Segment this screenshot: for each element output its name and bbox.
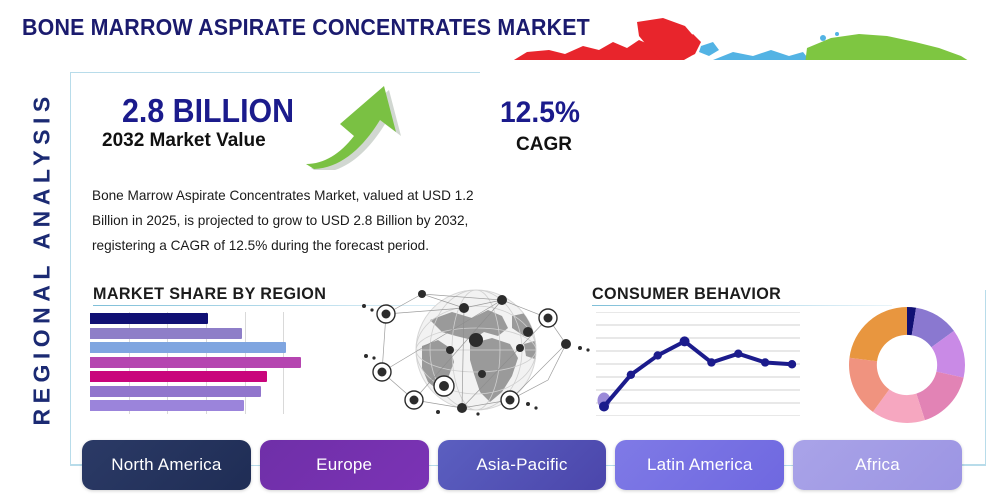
bar-chart-bar bbox=[90, 313, 208, 324]
bar-fill bbox=[90, 357, 301, 368]
bar-chart-bar bbox=[90, 400, 244, 411]
bar-fill bbox=[90, 371, 267, 382]
region-button-label: Africa bbox=[855, 455, 900, 475]
consumer-behavior-line-chart bbox=[596, 312, 800, 416]
line-chart-marker bbox=[761, 358, 769, 366]
line-chart-marker bbox=[599, 401, 609, 411]
global-network-icon bbox=[352, 282, 600, 422]
bar-fill bbox=[90, 400, 244, 411]
section-rule-consumer-behavior bbox=[592, 305, 892, 306]
bar-chart-bar bbox=[90, 371, 267, 382]
infographic-root: BONE MARROW ASPIRATE CONCENTRATES MARKET… bbox=[0, 0, 1000, 500]
line-chart-marker bbox=[627, 371, 635, 379]
line-chart-marker bbox=[654, 351, 662, 359]
section-title-market-share: MARKET SHARE BY REGION bbox=[93, 284, 326, 304]
line-chart-marker bbox=[707, 358, 715, 366]
region-button-label: North America bbox=[111, 455, 221, 475]
cagr-caption: CAGR bbox=[516, 134, 572, 156]
region-button-europe[interactable]: Europe bbox=[260, 440, 429, 490]
side-label-regional-analysis: REGIONAL ANALYSIS bbox=[29, 126, 56, 426]
bar-chart-bar bbox=[90, 357, 301, 368]
region-button-latin-america[interactable]: Latin America bbox=[615, 440, 784, 490]
region-button-north-america[interactable]: North America bbox=[82, 440, 251, 490]
region-button-africa[interactable]: Africa bbox=[793, 440, 962, 490]
consumer-behavior-donut-chart bbox=[848, 306, 966, 424]
line-chart-marker bbox=[734, 349, 742, 357]
market-value-caption: 2032 Market Value bbox=[102, 130, 266, 152]
section-title-consumer-behavior: CONSUMER BEHAVIOR bbox=[592, 284, 781, 304]
bar-fill bbox=[90, 342, 286, 353]
frame-mask bbox=[480, 60, 990, 290]
region-button-asia-pacific[interactable]: Asia-Pacific bbox=[438, 440, 607, 490]
market-share-bar-chart bbox=[90, 312, 322, 414]
region-button-label: Latin America bbox=[647, 455, 753, 475]
growth-arrow bbox=[300, 80, 420, 170]
region-button-bar: North AmericaEuropeAsia-PacificLatin Ame… bbox=[82, 440, 962, 490]
region-button-label: Asia-Pacific bbox=[476, 455, 567, 475]
line-chart-svg bbox=[596, 312, 800, 416]
cagr-value: 12.5% bbox=[500, 96, 580, 130]
description-text: Bone Marrow Aspirate Concentrates Market… bbox=[92, 183, 512, 258]
region-button-label: Europe bbox=[316, 455, 372, 475]
global-network-graphic bbox=[352, 282, 600, 422]
growth-arrow-icon bbox=[300, 80, 420, 170]
line-chart-marker bbox=[680, 336, 690, 346]
donut-segment bbox=[916, 372, 963, 421]
bar-fill bbox=[90, 313, 208, 324]
bar-fill bbox=[90, 386, 261, 397]
line-chart-marker bbox=[788, 360, 796, 368]
bar-chart-bar bbox=[90, 328, 242, 339]
market-value: 2.8 BILLION bbox=[122, 92, 294, 130]
bar-chart-bar bbox=[90, 386, 261, 397]
donut-chart-svg bbox=[848, 306, 966, 424]
donut-segment bbox=[849, 307, 907, 361]
bar-fill bbox=[90, 328, 242, 339]
bar-chart-bar bbox=[90, 342, 286, 353]
